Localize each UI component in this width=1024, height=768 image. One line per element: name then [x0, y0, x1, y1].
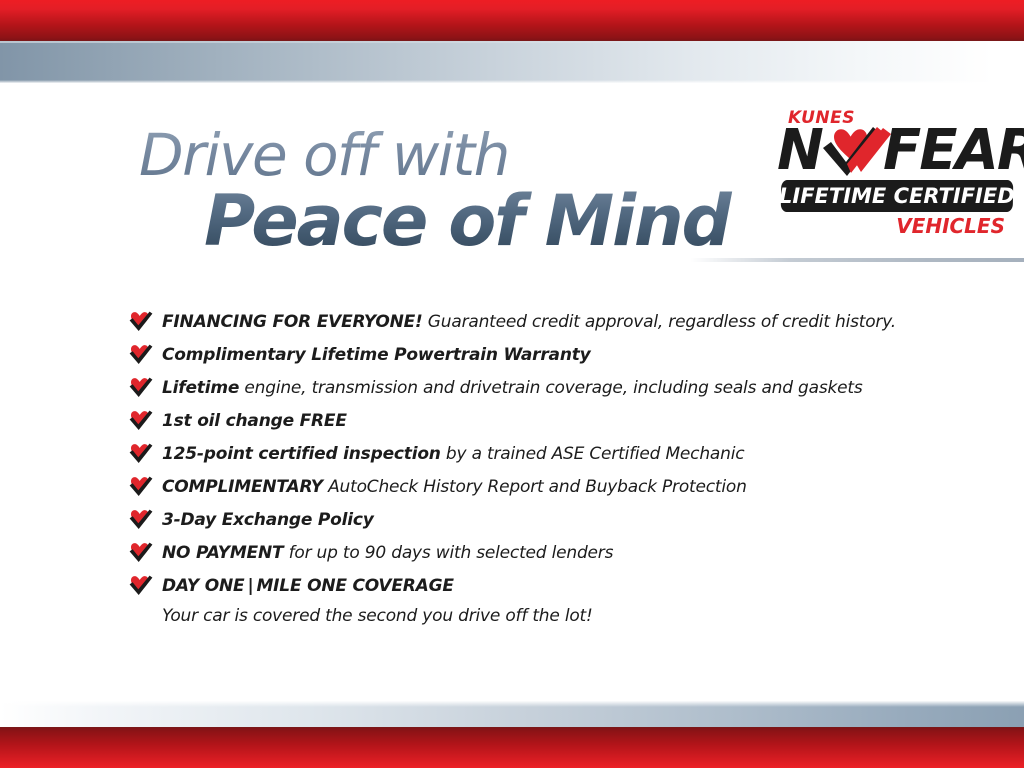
heart-check-bullet-icon [128, 310, 162, 338]
list-item-subtext: Your car is covered the second you drive… [162, 603, 928, 629]
kunes-no-fear-logo: KUNES N FEAR LIFETIME CERTIFIED VEHICL [775, 108, 1013, 248]
top-red-band [0, 0, 1024, 41]
list-item-text: FINANCING FOR EVERYONE! Guaranteed credi… [162, 306, 928, 339]
logo-word-fear: FEAR [883, 122, 1024, 180]
list-item-text: 3-Day Exchange Policy [162, 504, 928, 537]
list-item-strong-2: MILE ONE COVERAGE [256, 576, 453, 596]
list-item-rest: AutoCheck History Report and Buyback Pro… [323, 477, 747, 497]
list-item: NO PAYMENT for up to 90 days with select… [128, 537, 928, 570]
list-item-strong: COMPLIMENTARY [162, 477, 323, 497]
list-item: 125-point certified inspection by a trai… [128, 438, 928, 471]
list-item-rest: Guaranteed credit approval, regardless o… [423, 312, 896, 332]
heart-check-bullet-icon [128, 409, 162, 437]
list-item: 3-Day Exchange Policy [128, 504, 928, 537]
list-item-separator: | [244, 576, 256, 596]
heart-check-bullet-icon [128, 541, 162, 569]
logo-wordmark: N FEAR [775, 122, 1013, 180]
benefits-list: FINANCING FOR EVERYONE! Guaranteed credi… [128, 306, 928, 629]
list-item-rest: engine, transmission and drivetrain cove… [239, 378, 862, 398]
logo-ribbon-text: LIFETIME CERTIFIED [779, 184, 1015, 208]
list-item-text: COMPLIMENTARY AutoCheck History Report a… [162, 471, 928, 504]
list-item: DAY ONE|MILE ONE COVERAGE [128, 570, 928, 603]
bottom-gray-band [0, 701, 1024, 727]
list-item-text: Lifetime engine, transmission and drivet… [162, 372, 928, 405]
heart-check-bullet-icon [128, 574, 162, 602]
list-item-strong: 125-point certified inspection [162, 444, 441, 464]
list-item-strong: FINANCING FOR EVERYONE! [162, 312, 423, 332]
logo-vehicles-text: VEHICLES [896, 214, 1005, 238]
list-item-text: 125-point certified inspection by a trai… [162, 438, 928, 471]
list-item-text: NO PAYMENT for up to 90 days with select… [162, 537, 928, 570]
headline-line-2: Peace of Mind [136, 186, 756, 256]
list-item: COMPLIMENTARY AutoCheck History Report a… [128, 471, 928, 504]
heart-check-bullet-icon [128, 376, 162, 404]
logo-ribbon: LIFETIME CERTIFIED [781, 180, 1014, 212]
top-gray-band [0, 41, 1024, 83]
headline: Drive off with Peace of Mind [136, 126, 756, 256]
list-item: 1st oil change FREE [128, 405, 928, 438]
list-item: Lifetime engine, transmission and drivet… [128, 372, 928, 405]
list-item-rest: by a trained ASE Certified Mechanic [441, 444, 745, 464]
promo-poster: Drive off with Peace of Mind KUNES N FEA… [0, 0, 1024, 768]
headline-line-1: Drive off with [136, 126, 756, 184]
list-item: FINANCING FOR EVERYONE! Guaranteed credi… [128, 306, 928, 339]
list-item-text: 1st oil change FREE [162, 405, 928, 438]
list-item-strong: NO PAYMENT [162, 543, 283, 563]
list-item: Complimentary Lifetime Powertrain Warran… [128, 339, 928, 372]
list-item-rest: for up to 90 days with selected lenders [283, 543, 613, 563]
list-item-strong: 3-Day Exchange Policy [162, 510, 374, 530]
bottom-red-band [0, 727, 1024, 768]
list-item-strong: Lifetime [162, 378, 239, 398]
heart-check-bullet-icon [128, 508, 162, 536]
list-item-strong: DAY ONE [162, 576, 244, 596]
list-item-strong: 1st oil change FREE [162, 411, 347, 431]
heart-check-bullet-icon [128, 442, 162, 470]
heart-check-bullet-icon [128, 343, 162, 371]
heart-check-icon [811, 124, 893, 184]
list-item-strong: Complimentary Lifetime Powertrain Warran… [162, 345, 591, 365]
list-item-text: Complimentary Lifetime Powertrain Warran… [162, 339, 928, 372]
list-item-text: DAY ONE|MILE ONE COVERAGE [162, 570, 928, 603]
headline-divider [690, 258, 1024, 262]
heart-check-bullet-icon [128, 475, 162, 503]
